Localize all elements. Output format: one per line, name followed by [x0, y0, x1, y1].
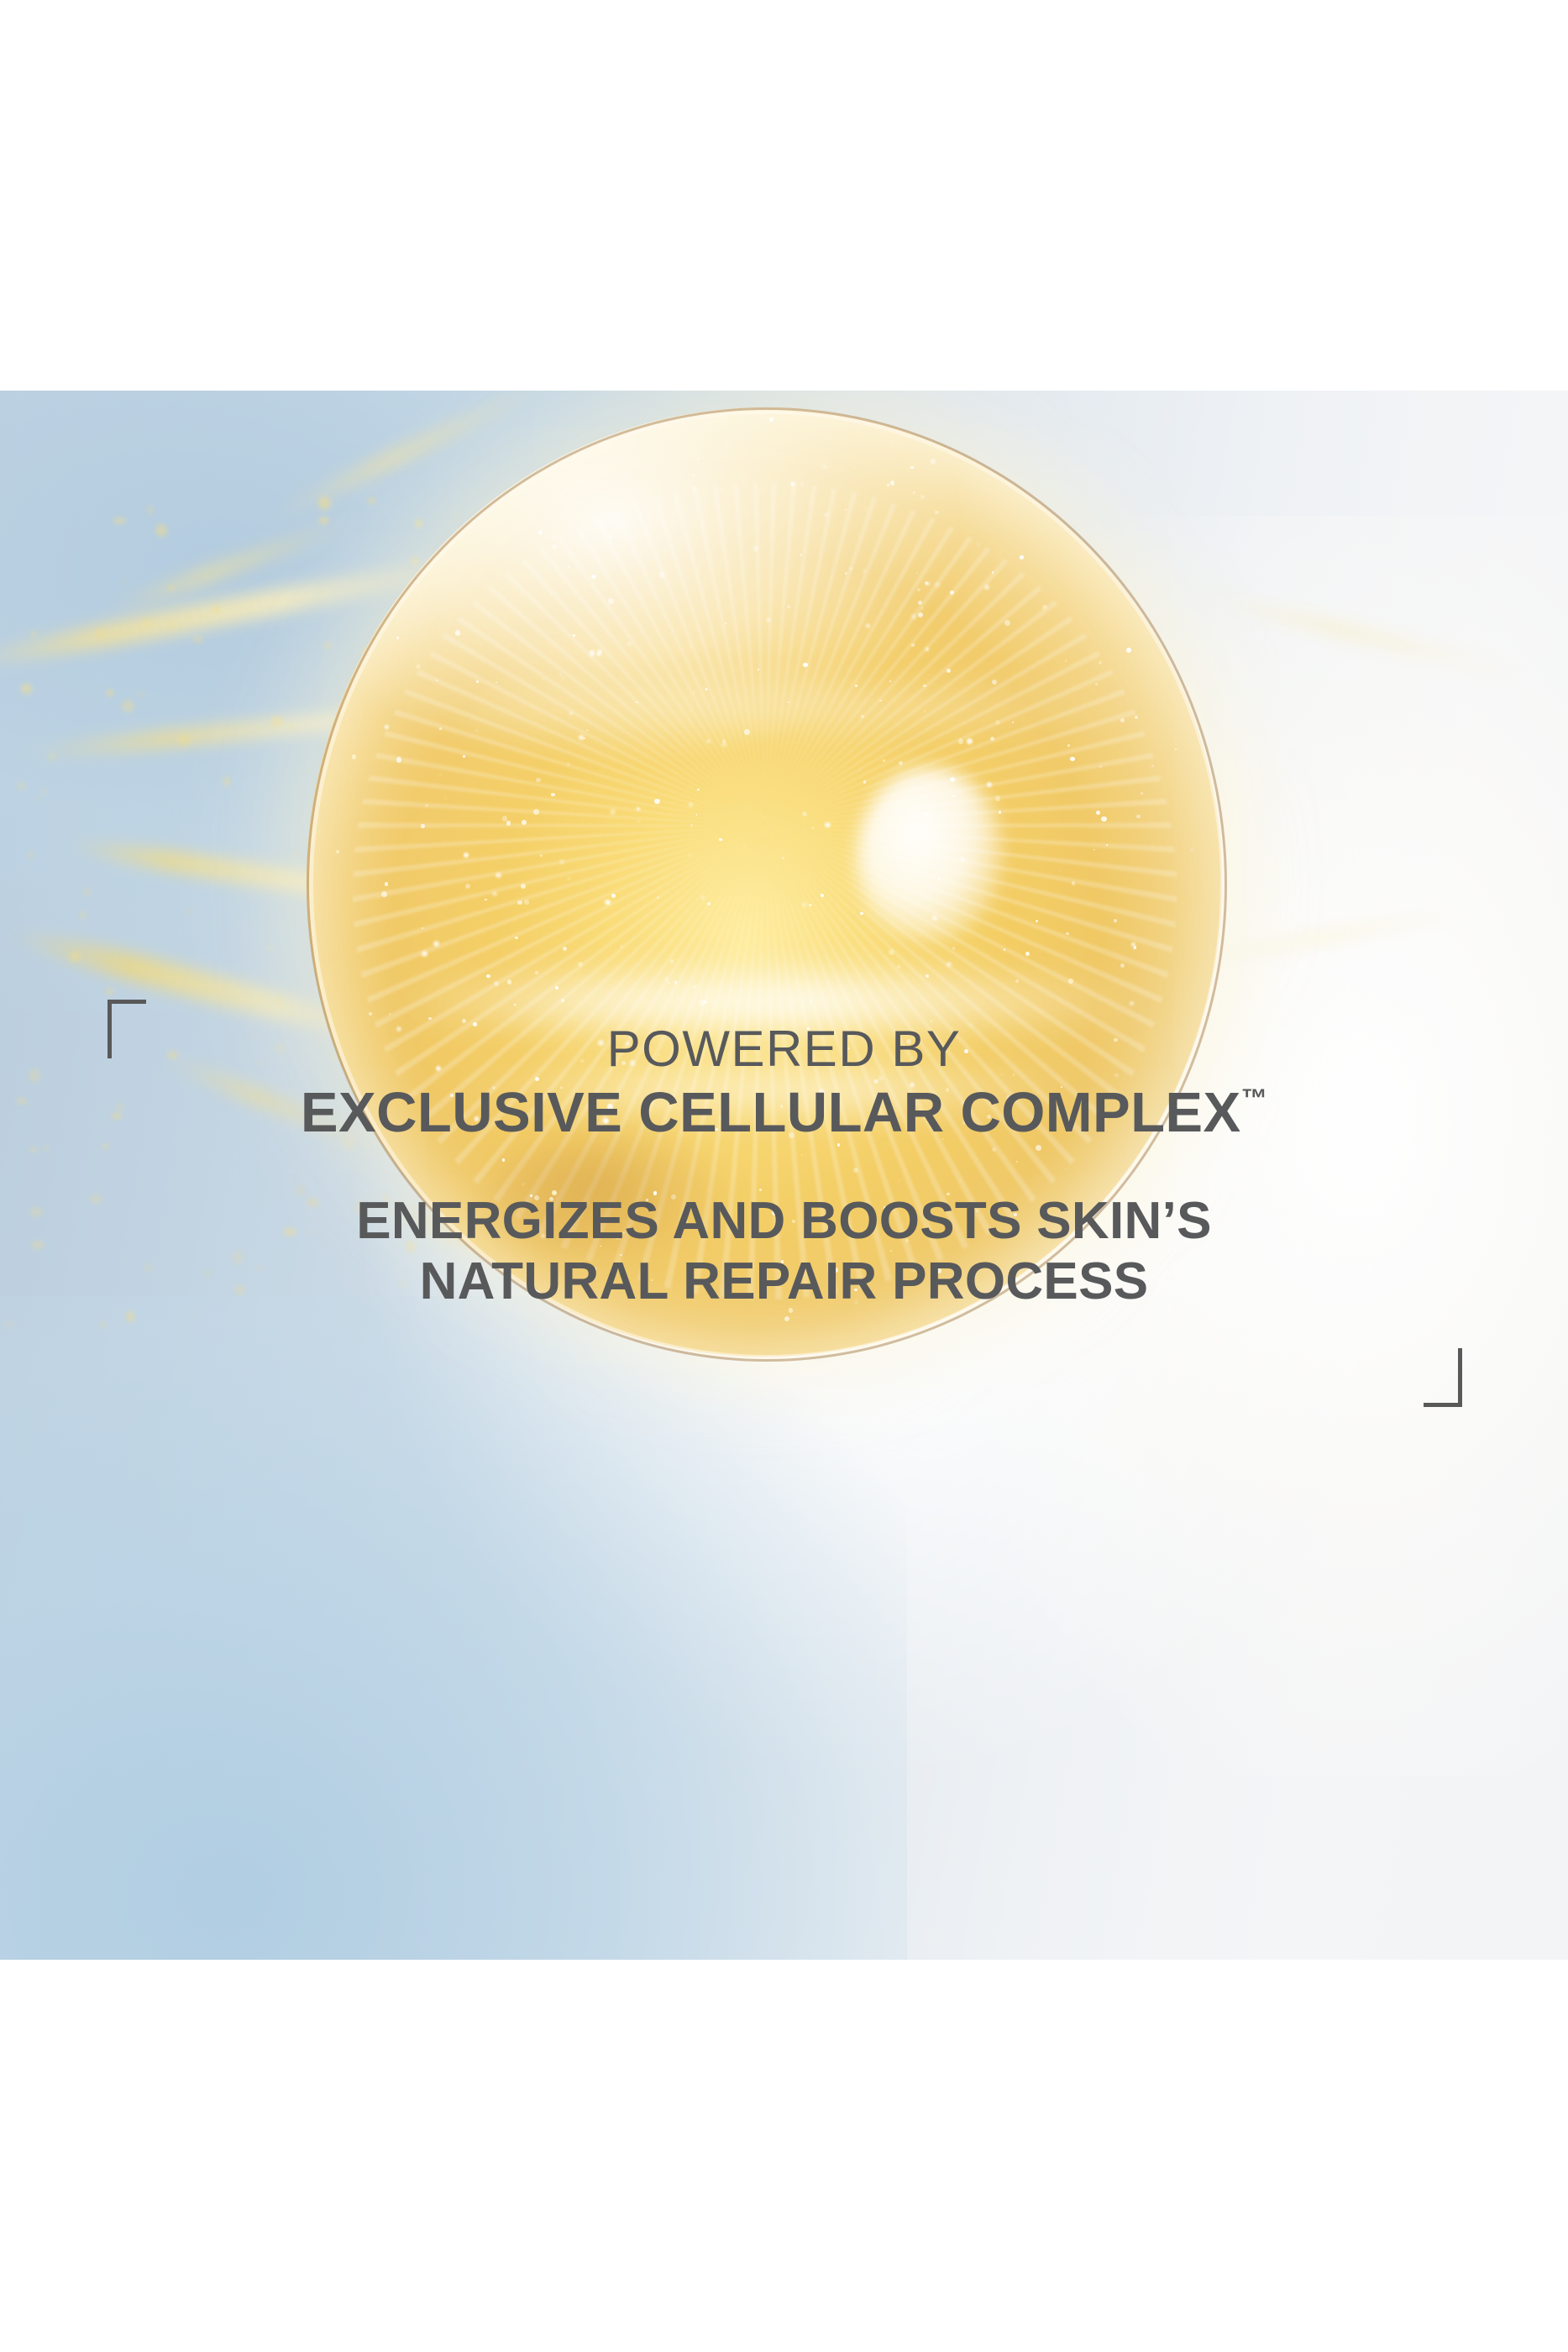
sparkle-dot	[819, 1089, 825, 1095]
sparkle-dot	[887, 484, 889, 486]
droplet	[101, 1322, 105, 1327]
sparkle-dot	[803, 663, 807, 667]
sparkle-dot	[486, 974, 490, 978]
sparkle-dot	[809, 904, 812, 907]
sparkle-dot	[621, 1061, 627, 1066]
droplet	[357, 1198, 360, 1200]
sparkle-dot	[1120, 718, 1125, 722]
sparkle-dot	[549, 1197, 553, 1201]
sparkle-dot	[916, 1001, 919, 1004]
droplet	[178, 735, 191, 746]
sparkle-dot	[1014, 1213, 1017, 1216]
sparkle-dot	[607, 1104, 613, 1110]
sparkle-dot	[801, 483, 804, 486]
sparkle-dot	[501, 1103, 503, 1105]
sparkle-dot	[674, 981, 677, 984]
sparkle-dot	[1025, 952, 1030, 956]
sparkle-dot	[1060, 870, 1061, 871]
sparkle-dot	[889, 680, 891, 682]
sparkle-dot	[689, 854, 692, 858]
sparkle-dot	[653, 1191, 657, 1194]
sparkle-dot	[991, 894, 993, 895]
sparkle-dot	[802, 902, 807, 907]
sparkle-dot	[935, 582, 939, 586]
sparkle-dot	[845, 509, 847, 511]
sparkle-dot	[726, 444, 729, 447]
sparkle-dot	[581, 1060, 583, 1062]
sparkle-dot	[600, 1125, 605, 1130]
droplet	[193, 636, 202, 643]
sparkle-dot	[506, 821, 511, 826]
sparkle-dot	[692, 486, 697, 491]
sparkle-dot	[1120, 963, 1125, 968]
droplet	[113, 517, 126, 524]
splash-streak	[17, 700, 453, 764]
sphere-amber-pocket	[490, 1129, 725, 1263]
sparkle-dot	[784, 1316, 789, 1321]
sparkle-dot	[567, 763, 569, 765]
droplet	[122, 580, 128, 583]
sparkle-dot	[1042, 606, 1047, 611]
sparkle-dot	[716, 1128, 718, 1131]
sparkle-dot	[620, 945, 623, 948]
sparkle-dot	[518, 1113, 522, 1116]
sparkle-dot	[921, 496, 924, 498]
droplet	[406, 1241, 416, 1252]
sparkle-dot	[863, 570, 867, 573]
sparkle-dot	[594, 1268, 596, 1270]
sparkle-dot	[659, 572, 665, 578]
sparkle-dot	[689, 802, 693, 806]
sparkle-dot	[926, 648, 929, 651]
sparkle-dot	[860, 912, 863, 915]
droplet	[274, 1043, 286, 1053]
sparkle-dot	[1061, 1086, 1062, 1088]
sparkle-dot	[999, 811, 1002, 814]
sparkle-dot	[1114, 1116, 1116, 1117]
sparkle-dot	[899, 1201, 903, 1205]
sparkle-dot	[696, 814, 697, 815]
sparkle-dot	[916, 572, 918, 574]
sparkle-dot	[995, 720, 1000, 725]
sparkle-dot	[684, 1220, 688, 1223]
sparkle-dot	[541, 1234, 545, 1238]
droplet	[83, 888, 90, 895]
sparkle-dot	[637, 807, 640, 811]
droplet	[271, 717, 283, 726]
sparkle-dot	[1082, 890, 1083, 892]
sparkle-dot	[921, 607, 923, 609]
sparkle-dot	[693, 985, 697, 990]
droplet	[17, 1098, 27, 1105]
sparkle-dot	[782, 857, 784, 859]
sparkle-dot	[890, 1250, 892, 1252]
sparkle-dot	[911, 643, 914, 646]
sparkle-dot	[674, 1072, 674, 1073]
sparkle-dot	[976, 1210, 978, 1212]
splash-streak	[60, 833, 420, 911]
droplet	[415, 519, 422, 528]
droplet	[491, 1073, 500, 1081]
sparkle-dot	[788, 701, 789, 703]
sparkle-dot	[962, 1102, 966, 1105]
sparkle-dot	[1126, 648, 1131, 653]
droplet	[284, 1228, 295, 1236]
sparkle-dot	[918, 612, 923, 617]
sparkle-dot	[722, 739, 726, 743]
droplet	[459, 1092, 463, 1097]
droplet	[398, 1281, 407, 1287]
droplet	[50, 1152, 52, 1156]
sparkle-dot	[883, 759, 885, 762]
sparkle-dot	[436, 680, 438, 682]
sparkle-dot	[560, 1087, 563, 1089]
sparkle-dot	[421, 824, 425, 828]
sparkle-dot	[693, 475, 695, 476]
sparkle-dot	[1133, 948, 1135, 949]
sparkle-dot	[952, 795, 955, 797]
sparkle-dot	[946, 993, 947, 995]
sparkle-dot	[788, 1006, 789, 1008]
sparkle-dot	[925, 812, 929, 816]
sparkle-dot	[551, 793, 554, 796]
droplet	[485, 509, 493, 513]
splash-streak	[3, 920, 392, 1049]
sparkle-dot	[396, 757, 402, 763]
droplet	[97, 628, 104, 638]
droplet	[440, 1266, 443, 1268]
sparkle-dot	[676, 660, 678, 662]
sparkle-dot	[899, 1180, 900, 1182]
sparkle-dot	[514, 1004, 516, 1005]
droplet	[411, 558, 418, 564]
droplet	[21, 684, 32, 693]
sparkle-dot	[995, 795, 1001, 801]
droplet	[293, 851, 299, 858]
splash-streak	[1174, 900, 1491, 971]
sparkle-dot	[878, 1076, 884, 1081]
droplet	[102, 1144, 108, 1148]
sparkle-dot	[550, 593, 553, 596]
sparkle-dot	[657, 896, 660, 900]
droplet	[476, 669, 487, 675]
sparkle-dot	[536, 778, 541, 783]
sparkle-dot	[433, 941, 439, 947]
sparkle-dot	[703, 1000, 707, 1005]
droplet	[79, 911, 87, 920]
photo-cool-gradient-bottom-left	[0, 1296, 907, 1960]
sparkle-dot	[910, 466, 914, 470]
droplet	[233, 1251, 243, 1264]
splash-streak	[0, 549, 485, 677]
droplet	[398, 1030, 407, 1037]
sparkle-dot	[947, 962, 952, 967]
sparkle-dot	[417, 664, 421, 669]
sparkle-dot	[815, 1094, 818, 1096]
sphere-light-rays	[353, 483, 1177, 1299]
sparkle-dot	[533, 809, 539, 815]
sparkle-dot	[855, 685, 857, 687]
sparkle-dot	[396, 637, 399, 639]
sparkle-dot	[1191, 849, 1193, 851]
sparkle-dot	[555, 986, 559, 990]
droplet	[507, 883, 513, 887]
droplet	[296, 1185, 306, 1195]
sparkle-dot	[807, 1027, 810, 1031]
sparkle-dot	[670, 959, 674, 963]
droplet	[422, 591, 427, 595]
sparkle-dot	[1072, 881, 1076, 885]
sparkle-dot	[390, 1013, 391, 1015]
sparkle-dot	[732, 974, 733, 976]
droplet	[477, 1206, 488, 1218]
droplet	[501, 647, 511, 654]
sparkle-dot	[948, 1235, 950, 1236]
droplet	[36, 797, 39, 801]
sparkle-dot	[837, 1143, 840, 1146]
sparkle-dot	[1043, 605, 1047, 609]
sparkle-dot	[1151, 764, 1154, 767]
sparkle-dot	[665, 978, 668, 980]
sparkle-dot	[1141, 792, 1143, 795]
sparkle-dot	[748, 1295, 750, 1297]
sparkle-dot	[540, 854, 543, 857]
droplet	[69, 952, 81, 962]
sparkle-dot	[651, 1279, 653, 1281]
droplet	[412, 685, 422, 694]
droplet	[31, 631, 35, 637]
sparkle-dot	[923, 685, 926, 688]
sparkle-dot	[381, 891, 387, 897]
sparkle-dot	[931, 459, 936, 464]
droplet	[126, 1311, 134, 1321]
sparkle-dot	[947, 669, 951, 673]
droplet	[168, 585, 175, 591]
sparkle-dot	[538, 530, 543, 535]
droplet	[418, 788, 424, 794]
splash-streak	[265, 391, 559, 527]
sparkle-dot	[552, 536, 555, 539]
droplet	[41, 1146, 51, 1151]
sparkle-dot	[475, 1116, 480, 1121]
splash-streak	[1185, 583, 1531, 685]
sparkle-dot	[616, 1235, 620, 1239]
sparkle-dot	[947, 1193, 950, 1196]
hero-photo	[0, 391, 1568, 1960]
sparkle-dot	[1070, 757, 1074, 761]
sparkle-dot	[861, 715, 864, 718]
droplet	[167, 1051, 179, 1059]
droplet	[476, 622, 488, 636]
sparkle-dot	[697, 458, 699, 459]
sparkle-dot	[561, 999, 564, 1002]
sparkle-dot	[422, 927, 423, 929]
sparkle-dot	[1131, 942, 1135, 947]
sparkle-dot	[769, 417, 773, 421]
sparkle-dot	[464, 853, 469, 858]
sparkle-dot	[987, 782, 992, 787]
sparkle-dot	[825, 513, 828, 517]
sparkle-dot	[445, 797, 447, 799]
sphere-rim-ring	[307, 407, 1227, 1362]
droplet	[181, 831, 185, 833]
droplet	[112, 1113, 122, 1119]
sparkle-dot	[952, 947, 955, 949]
sparkle-dot	[849, 567, 852, 570]
sparkle-dot	[473, 1022, 477, 1026]
sparkle-dot	[1015, 979, 1020, 984]
sparkle-dot	[925, 581, 928, 585]
sparkle-dot	[1130, 1001, 1134, 1005]
sparkle-dot	[890, 480, 894, 485]
golden-sphere	[307, 407, 1222, 1357]
sparkle-dot	[690, 646, 691, 648]
sparkle-dot	[993, 1148, 995, 1151]
sparkle-dot	[543, 678, 544, 680]
sparkle-dot	[658, 1054, 660, 1056]
sparkle-dot	[913, 491, 915, 494]
sparkle-dot	[1095, 683, 1098, 685]
sparkle-dot	[822, 465, 826, 469]
droplet	[48, 753, 57, 762]
droplet	[406, 731, 417, 743]
droplet	[363, 647, 373, 658]
sparkle-dot	[597, 653, 600, 656]
sparkle-dot	[1013, 1074, 1015, 1076]
sparkle-dot	[578, 962, 583, 967]
sparkle-dot	[707, 902, 711, 906]
droplet	[147, 506, 154, 514]
droplet	[438, 879, 450, 892]
sparkle-dot	[810, 1000, 812, 1002]
sparkle-dot	[917, 588, 920, 591]
sparkle-dot	[608, 598, 614, 604]
sparkle-dot	[781, 1260, 784, 1263]
sphere-streak-band	[380, 977, 1167, 1027]
sparkle-dot	[753, 546, 758, 550]
droplet	[368, 497, 375, 504]
page-canvas: POWERED BY EXCLUSIVE CELLULAR COMPLEX™ E…	[0, 0, 1568, 2352]
droplet	[384, 1195, 388, 1200]
droplet	[223, 777, 231, 786]
sparkle-dot	[889, 949, 894, 955]
sparkle-dot	[1004, 948, 1006, 951]
photo-cool-gradient-top-left	[0, 391, 840, 1012]
sparkle-dot	[385, 725, 389, 729]
sparkle-dot	[422, 951, 427, 957]
sparkle-dot	[1012, 722, 1014, 723]
splash-streak	[365, 1193, 659, 1305]
sparkle-dot	[790, 481, 795, 486]
sparkle-dot	[583, 738, 585, 739]
sparkle-dot	[864, 507, 868, 511]
droplet	[258, 1267, 262, 1270]
sparkle-dot	[668, 982, 670, 984]
sparkle-dot	[620, 1254, 621, 1256]
sparkle-dot	[1136, 815, 1140, 818]
droplet	[155, 524, 167, 537]
droplet	[29, 1207, 43, 1217]
sparkle-dot	[693, 691, 695, 694]
sparkle-dot	[1096, 811, 1100, 815]
droplet	[193, 1317, 197, 1320]
sparkle-dot	[607, 902, 610, 905]
sparkle-dot	[780, 1105, 783, 1107]
sparkle-dot	[801, 1154, 803, 1156]
sparkle-dot	[863, 780, 867, 784]
droplet	[90, 1194, 103, 1204]
droplet	[307, 1231, 313, 1234]
sparkle-dot	[496, 682, 497, 684]
sparkle-dot	[950, 591, 954, 595]
sparkle-dot	[611, 894, 616, 898]
sparkle-dot	[889, 1102, 890, 1104]
sparkle-dot	[578, 454, 579, 456]
splash-streak	[157, 1050, 397, 1160]
sparkle-dot	[941, 1138, 944, 1141]
sparkle-dot	[569, 711, 573, 715]
sparkle-dot	[772, 1210, 777, 1215]
sparkle-dot	[697, 789, 699, 790]
sparkle-dot	[463, 755, 465, 758]
sparkle-dot	[743, 846, 745, 848]
sparkle-dot	[1101, 816, 1106, 822]
droplet	[275, 997, 282, 1005]
sparkle-dot	[485, 899, 486, 900]
droplet	[107, 690, 114, 696]
sparkle-dot	[992, 571, 994, 573]
sparkle-dot	[597, 649, 602, 654]
sparkle-dot	[737, 1277, 741, 1280]
sparkle-dot	[522, 1184, 524, 1185]
droplet	[518, 887, 523, 892]
droplet	[212, 606, 220, 613]
droplet	[419, 999, 423, 1004]
sparkle-dot	[924, 711, 926, 712]
droplet	[251, 1036, 255, 1041]
sparkle-dot	[866, 624, 869, 627]
sparkle-dot	[899, 761, 903, 765]
sparkle-dot	[530, 1194, 533, 1198]
sparkle-dot	[455, 630, 461, 636]
sparkle-dot	[960, 1179, 962, 1181]
sparkle-dot	[964, 1049, 968, 1053]
sparkle-dot	[352, 754, 356, 759]
droplet	[29, 1147, 36, 1152]
droplet	[332, 1055, 339, 1060]
sparkle-dot	[425, 804, 429, 808]
sparkle-dot	[592, 1107, 595, 1110]
droplet	[205, 1271, 210, 1276]
sparkle-dot	[1036, 920, 1038, 922]
sparkle-dot	[787, 606, 790, 609]
sparkle-dot	[950, 777, 955, 782]
sparkle-dot	[990, 737, 994, 741]
sparkle-dot	[591, 575, 596, 580]
sparkle-dot	[396, 1026, 401, 1032]
sparkle-dot	[496, 873, 501, 878]
droplet	[269, 946, 272, 950]
droplet	[118, 1104, 123, 1110]
droplet	[458, 1152, 468, 1163]
sparkle-dot	[654, 799, 660, 805]
droplet	[418, 584, 432, 597]
sparkle-dot	[1065, 659, 1067, 662]
sparkle-dot	[507, 979, 511, 984]
droplet	[458, 754, 469, 764]
sparkle-dot	[918, 601, 922, 605]
sparkle-dot	[559, 673, 562, 675]
